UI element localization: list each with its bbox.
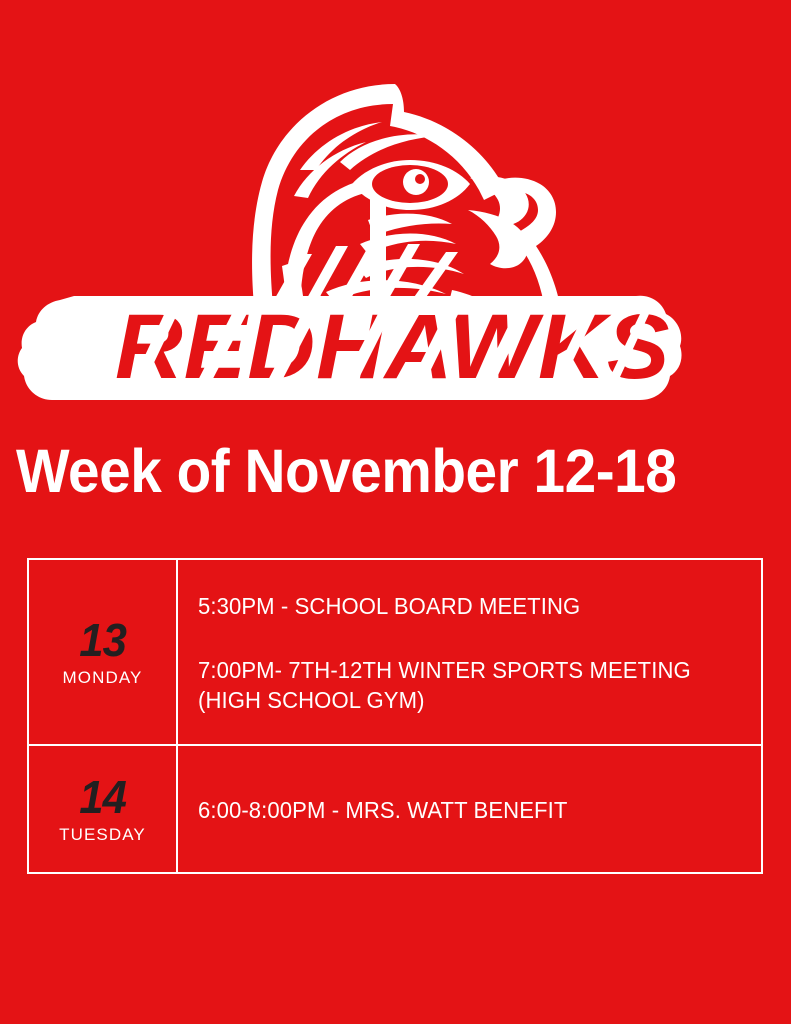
event-location: (HIGH SCHOOL GYM) [198,685,723,715]
day-number: 14 [79,773,126,821]
event-entry: 5:30PM - SCHOOL BOARD MEETING [198,591,745,621]
event-text: 5:30PM - SCHOOL BOARD MEETING [198,591,723,621]
table-row: 13 MONDAY 5:30PM - SCHOOL BOARD MEETING … [29,560,761,746]
event-text: 7:00PM- 7TH-12TH WINTER SPORTS MEETING [198,655,723,685]
day-name: TUESDAY [59,824,146,846]
table-row: 14 TUESDAY 6:00-8:00PM - MRS. WATT BENEF… [29,746,761,872]
events-cell-monday: 5:30PM - SCHOOL BOARD MEETING 7:00PM- 7T… [178,560,761,744]
events-cell-tuesday: 6:00-8:00PM - MRS. WATT BENEFIT [178,746,761,872]
weekly-schedule-table: 13 MONDAY 5:30PM - SCHOOL BOARD MEETING … [27,558,763,874]
event-text: 6:00-8:00PM - MRS. WATT BENEFIT [198,795,723,825]
day-number: 13 [79,616,126,664]
day-cell-monday: 13 MONDAY [29,560,178,744]
event-entry: 6:00-8:00PM - MRS. WATT BENEFIT [198,795,745,825]
day-cell-tuesday: 14 TUESDAY [29,746,178,872]
redhawks-wordmark: REDHAWKS [18,240,682,400]
redhawks-weekly-flyer: { "colors": { "background_red": "#E41315… [0,0,791,1024]
day-name: MONDAY [63,667,143,689]
redhawks-logo-svg: REDHAWKS [0,78,791,408]
event-entry: 7:00PM- 7TH-12TH WINTER SPORTS MEETING (… [198,655,745,715]
page-title: Week of November 12-18 [16,437,723,505]
redhawks-logo: REDHAWKS [0,78,791,408]
